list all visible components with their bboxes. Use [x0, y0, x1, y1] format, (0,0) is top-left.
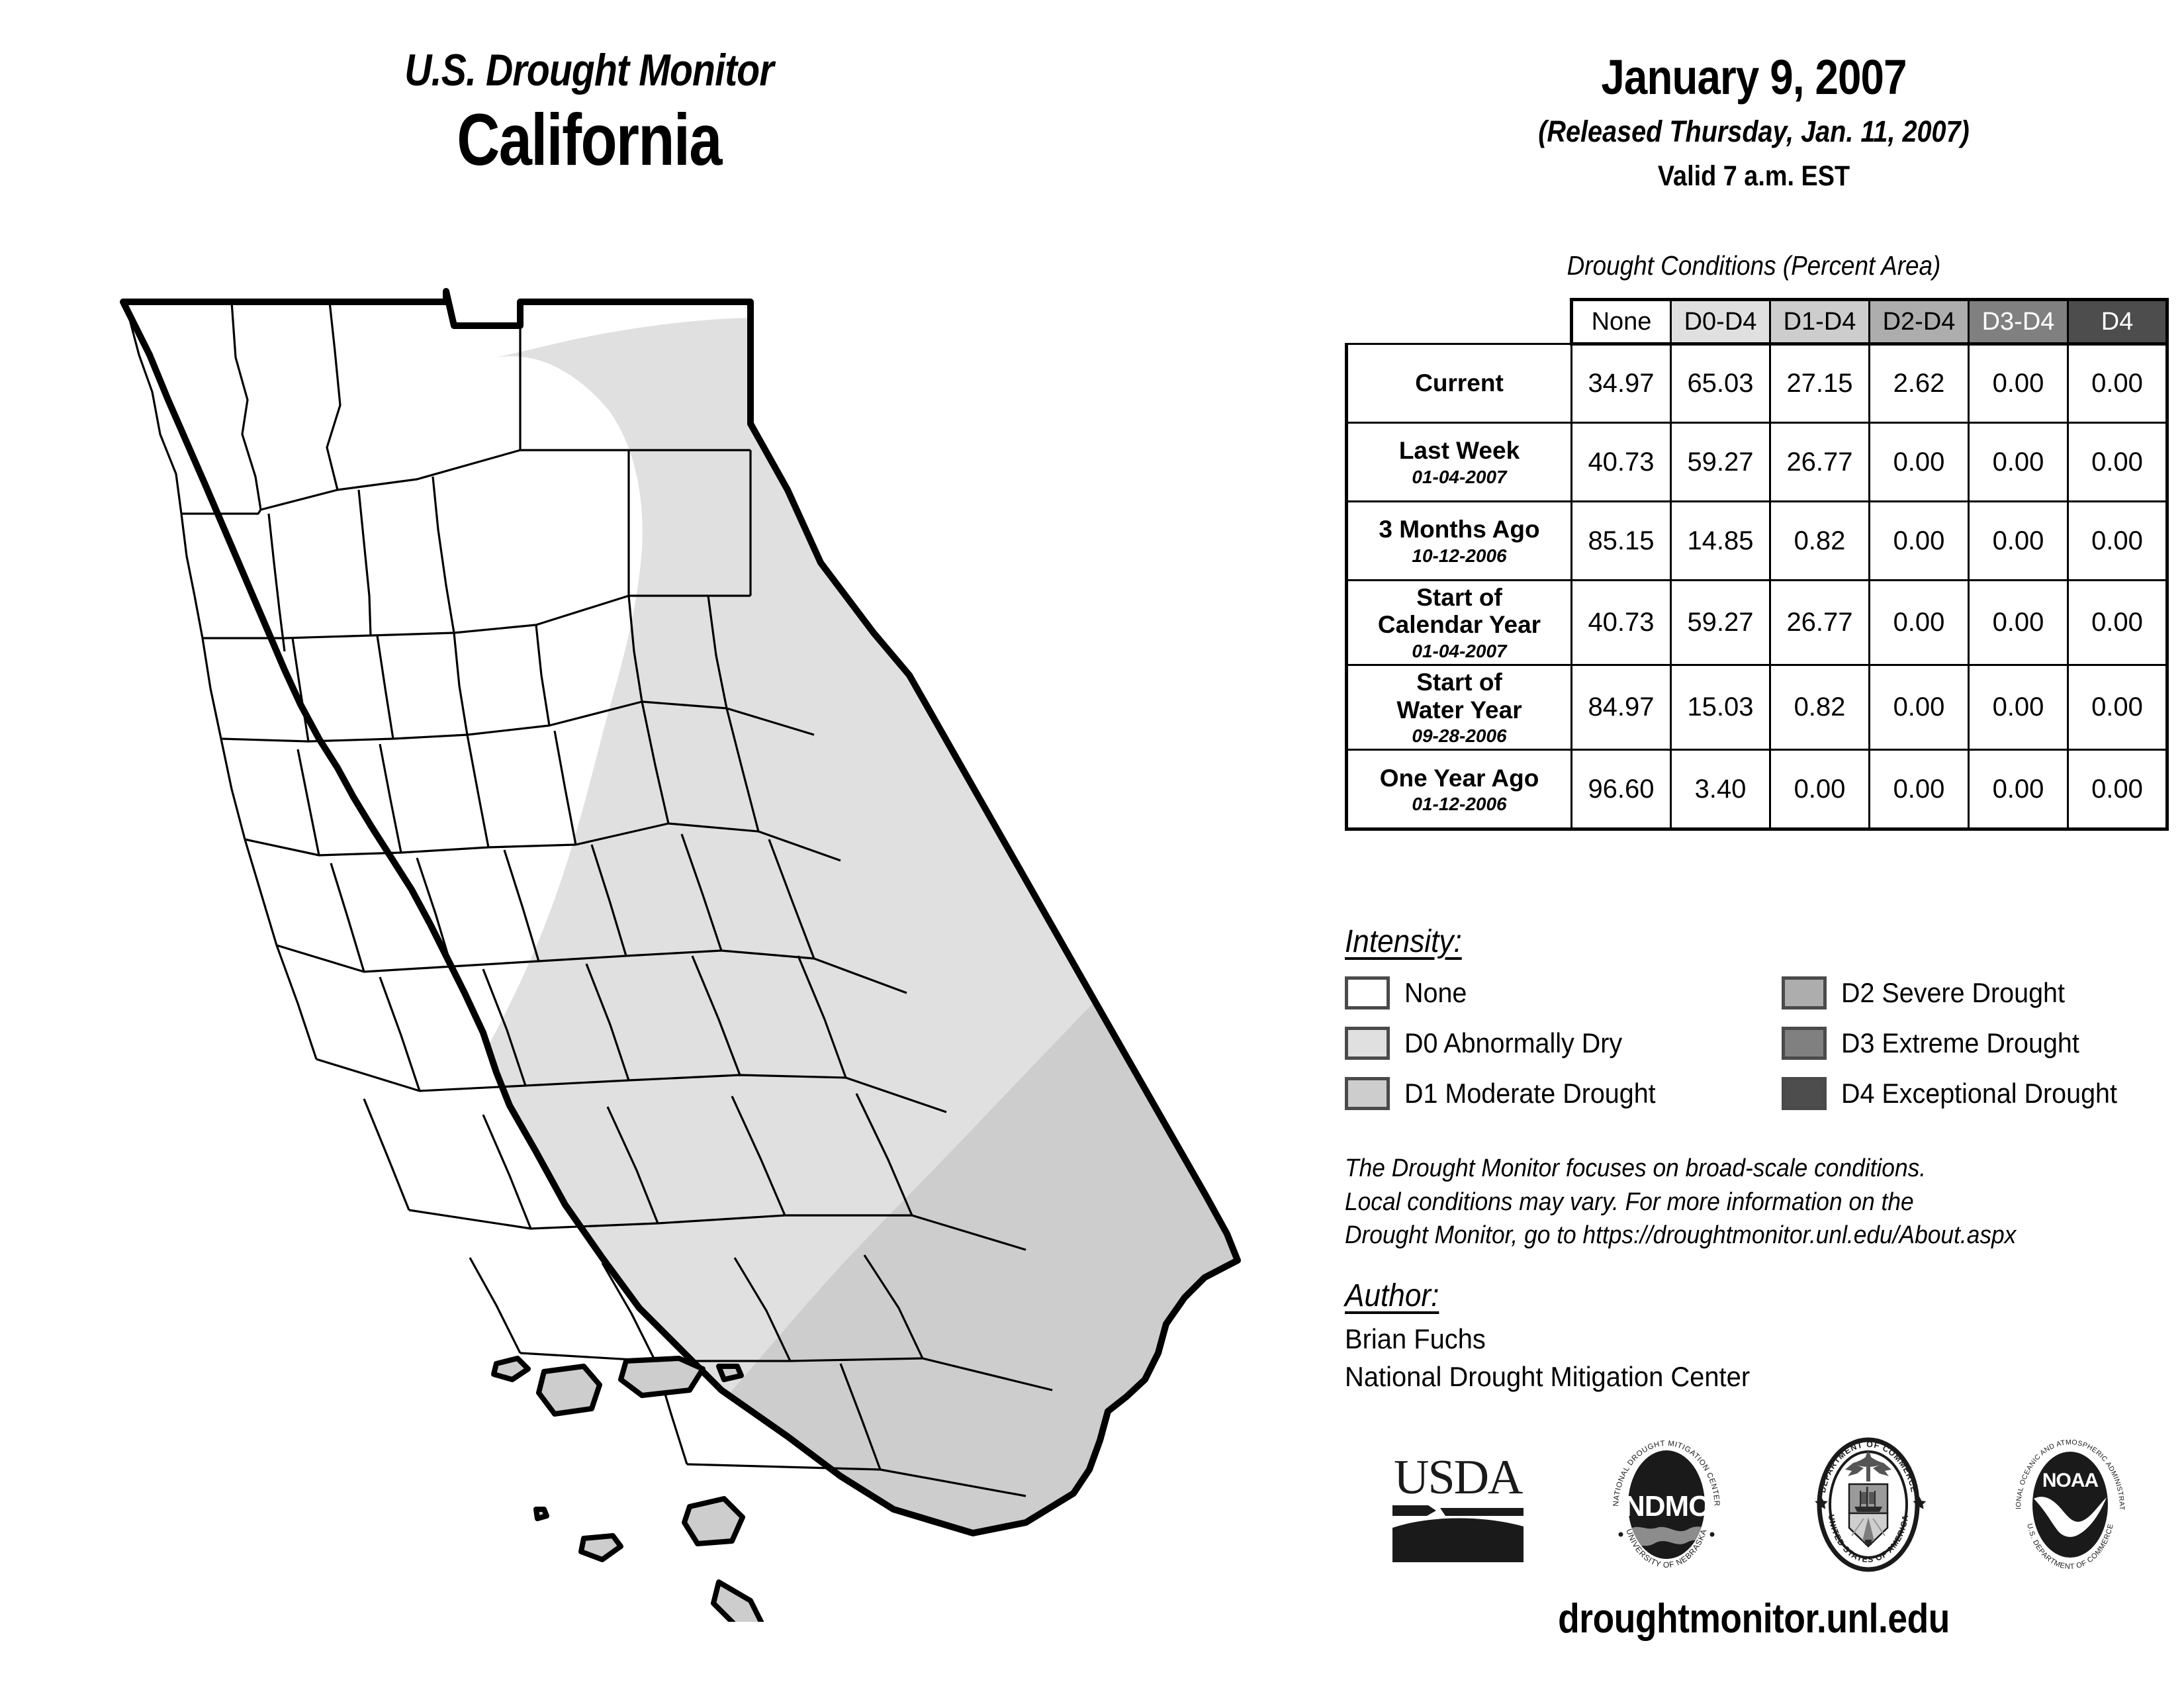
table-cell-d4: 0.00	[2068, 750, 2167, 829]
table-cell-d1-d4: 0.00	[1770, 750, 1870, 829]
table-cell-d0-d4: 65.03	[1671, 344, 1770, 423]
table-cell-d1-d4: 27.15	[1770, 344, 1870, 423]
legend-item: None	[1345, 976, 1782, 1009]
table-col-header-d3-d4: D3-D4	[1969, 300, 2068, 344]
author-heading: Author:	[1345, 1278, 1439, 1314]
table-cell-d4: 0.00	[2068, 344, 2167, 423]
title-block: U.S. Drought Monitor California	[93, 48, 1085, 179]
table-cell-d0-d4: 3.40	[1671, 750, 1770, 829]
table-cell-d2-d4: 0.00	[1870, 423, 1969, 502]
table-caption: Drought Conditions (Percent Area)	[1367, 250, 2141, 281]
disclaimer-line-3: Drought Monitor, go to https://droughtmo…	[1345, 1219, 2120, 1252]
legend-item: D1 Moderate Drought	[1345, 1077, 1782, 1110]
drought-conditions-table: NoneD0-D4D1-D4D2-D4D3-D4D4 Current34.976…	[1345, 298, 2169, 831]
table-col-header-d2-d4: D2-D4	[1870, 300, 1969, 344]
legend-label: D2 Severe Drought	[1841, 977, 2065, 1009]
disclaimer-text: The Drought Monitor focuses on broad-sca…	[1345, 1152, 2179, 1252]
table-col-header-d4: D4	[2068, 300, 2167, 344]
map-svg	[99, 278, 1291, 1622]
report-date: January 9, 2007	[1384, 53, 2124, 102]
legend-label: D0 Abnormally Dry	[1404, 1027, 1622, 1059]
table-cell-d1-d4: 0.82	[1770, 502, 1870, 581]
ndmc-logo: NDMC NATIONAL DROUGHT MITIGATION CENTER …	[1604, 1435, 1729, 1577]
table-cell-d1-d4: 0.82	[1770, 665, 1870, 750]
table-cell-d4: 0.00	[2068, 665, 2167, 750]
table-cell-d3-d4: 0.00	[1969, 344, 2068, 423]
row-label-text: Last Week	[1399, 437, 1520, 464]
table-row: Last Week01-04-200740.7359.2726.770.000.…	[1347, 423, 2167, 502]
table-cell-d2-d4: 0.00	[1870, 581, 1969, 665]
row-label-date: 09-28-2006	[1352, 726, 1567, 746]
release-date: (Released Thursday, Jan. 11, 2007)	[1375, 117, 2132, 146]
disclaimer-line-2: Local conditions may vary. For more info…	[1345, 1186, 2120, 1219]
table-cell-d3-d4: 0.00	[1969, 665, 2068, 750]
row-label-text: Current	[1415, 369, 1504, 397]
table-cell-d1-d4: 26.77	[1770, 423, 1870, 502]
svg-text:NDMC: NDMC	[1624, 1490, 1709, 1523]
legend-swatch	[1782, 1077, 1827, 1110]
row-label: Current	[1347, 344, 1572, 423]
legend-label: D1 Moderate Drought	[1404, 1078, 1656, 1109]
legend-label: D4 Exceptional Drought	[1841, 1078, 2117, 1109]
state-title: California	[182, 102, 996, 179]
row-label: Last Week01-04-2007	[1347, 423, 1572, 502]
row-label: Start ofWater Year09-28-2006	[1347, 665, 1572, 750]
table-row: Start ofWater Year09-28-200684.9715.030.…	[1347, 665, 2167, 750]
legend-swatch	[1345, 1027, 1390, 1060]
row-label-date: 01-12-2006	[1352, 794, 1567, 814]
noaa-logo: NOAA NATIONAL OCEANIC AND ATMOSPHERIC AD…	[2007, 1435, 2133, 1577]
table-col-header-d0-d4: D0-D4	[1671, 300, 1770, 344]
table-cell-none: 84.97	[1572, 665, 1671, 750]
row-label-date: 01-04-2007	[1352, 641, 1567, 661]
row-label-text: Start ofCalendar Year	[1378, 584, 1541, 638]
table-col-header-none: None	[1572, 300, 1671, 344]
table-cell-d3-d4: 0.00	[1969, 581, 2068, 665]
author-name: Brian Fuchs	[1345, 1321, 1750, 1358]
row-label: 3 Months Ago10-12-2006	[1347, 502, 1572, 581]
footer-url[interactable]: droughtmonitor.unl.edu	[1384, 1595, 2124, 1642]
intensity-heading: Intensity:	[1345, 923, 1462, 960]
row-label-text: 3 Months Ago	[1379, 516, 1539, 543]
info-panel: January 9, 2007 (Released Thursday, Jan.…	[1324, 0, 2184, 1688]
table-cell-d2-d4: 0.00	[1870, 750, 1969, 829]
table-header-row: NoneD0-D4D1-D4D2-D4D3-D4D4	[1347, 300, 2167, 344]
shield-icon	[1849, 1484, 1888, 1546]
legend-item: D2 Severe Drought	[1782, 976, 2172, 1009]
table-cell-d1-d4: 26.77	[1770, 581, 1870, 665]
svg-text:NOAA: NOAA	[2042, 1470, 2098, 1491]
author-organization: National Drought Mitigation Center	[1345, 1358, 1750, 1396]
table-cell-d3-d4: 0.00	[1969, 502, 2068, 581]
table-cell-none: 96.60	[1572, 750, 1671, 829]
legend-item: D3 Extreme Drought	[1782, 1027, 2172, 1060]
california-drought-map[interactable]	[99, 278, 1291, 1622]
table-cell-d4: 0.00	[2068, 502, 2167, 581]
table-cell-d0-d4: 59.27	[1671, 423, 1770, 502]
legend-label: D3 Extreme Drought	[1841, 1027, 2079, 1059]
row-label: Start ofCalendar Year01-04-2007	[1347, 581, 1572, 665]
row-label-date: 01-04-2007	[1352, 467, 1567, 487]
row-label-text: Start ofWater Year	[1396, 669, 1522, 723]
table-cell-none: 34.97	[1572, 344, 1671, 423]
table-col-header-d1-d4: D1-D4	[1770, 300, 1870, 344]
legend-swatch	[1345, 1077, 1390, 1110]
intensity-legend: NoneD2 Severe DroughtD0 Abnormally DryD3…	[1345, 968, 2172, 1119]
table-cell-d0-d4: 14.85	[1671, 502, 1770, 581]
table-cell-d2-d4: 2.62	[1870, 344, 1969, 423]
row-label: One Year Ago01-12-2006	[1347, 750, 1572, 829]
legend-label: None	[1404, 977, 1467, 1009]
valid-time: Valid 7 a.m. EST	[1375, 162, 2132, 191]
page-title: U.S. Drought Monitor	[172, 48, 1006, 93]
table-cell-none: 40.73	[1572, 423, 1671, 502]
map-panel: U.S. Drought Monitor California	[0, 0, 1324, 1688]
author-block: Brian Fuchs National Drought Mitigation …	[1345, 1321, 1771, 1395]
table-row: Current34.9765.0327.152.620.000.00	[1347, 344, 2167, 423]
disclaimer-line-1: The Drought Monitor focuses on broad-sca…	[1345, 1152, 2120, 1186]
table-cell-none: 40.73	[1572, 581, 1671, 665]
table-corner-cell	[1347, 300, 1572, 344]
row-label-date: 10-12-2006	[1352, 545, 1567, 566]
table-cell-d4: 0.00	[2068, 581, 2167, 665]
svg-text:USDA: USDA	[1394, 1450, 1523, 1505]
legend-swatch	[1782, 976, 1827, 1009]
table-body: Current34.9765.0327.152.620.000.00Last W…	[1347, 344, 2167, 829]
table-cell-d0-d4: 15.03	[1671, 665, 1770, 750]
table-cell-d0-d4: 59.27	[1671, 581, 1770, 665]
table-row: Start ofCalendar Year01-04-200740.7359.2…	[1347, 581, 2167, 665]
table-cell-d2-d4: 0.00	[1870, 665, 1969, 750]
legend-swatch	[1345, 976, 1390, 1009]
row-label-text: One Year Ago	[1380, 765, 1539, 792]
table-row: One Year Ago01-12-200696.603.400.000.000…	[1347, 750, 2167, 829]
table-cell-d2-d4: 0.00	[1870, 502, 1969, 581]
legend-item: D4 Exceptional Drought	[1782, 1077, 2172, 1110]
doc-logo: DEPARTMENT OF COMMERCE UNITED STATES OF …	[1805, 1435, 1931, 1577]
usda-logo: USDA	[1388, 1442, 1527, 1571]
table-cell-d3-d4: 0.00	[1969, 423, 2068, 502]
table-cell-d3-d4: 0.00	[1969, 750, 2068, 829]
legend-swatch	[1782, 1027, 1827, 1060]
table-row: 3 Months Ago10-12-200685.1514.850.820.00…	[1347, 502, 2167, 581]
table-cell-none: 85.15	[1572, 502, 1671, 581]
agency-logos: USDA NDMC	[1350, 1430, 2171, 1582]
date-block: January 9, 2007 (Released Thursday, Jan.…	[1324, 53, 2184, 191]
table-cell-d4: 0.00	[2068, 423, 2167, 502]
legend-item: D0 Abnormally Dry	[1345, 1027, 1782, 1060]
